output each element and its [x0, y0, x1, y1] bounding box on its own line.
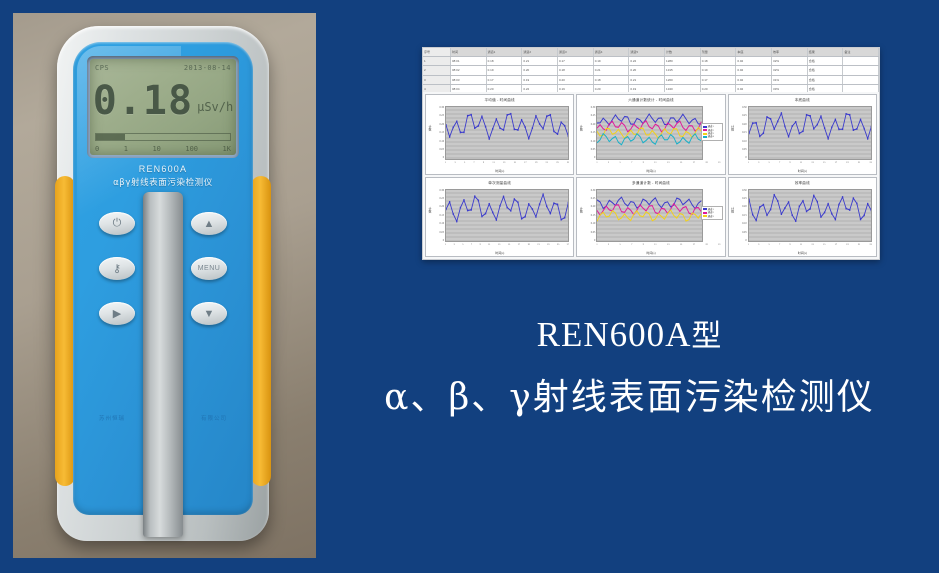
chart-data-point [524, 215, 525, 217]
x-tick: 11 [654, 243, 656, 249]
x-tick: 9 [480, 243, 481, 249]
chart-data-point [449, 201, 450, 203]
y-tick: 0.20 [433, 123, 444, 126]
x-tick: 3 [608, 243, 609, 249]
x-tick: 11 [488, 243, 490, 249]
chart-data-point [557, 133, 558, 135]
chart-data-point [557, 203, 558, 205]
chart-data-point [860, 218, 861, 220]
chart-data-point [446, 124, 447, 126]
mini-chart-yticks: 0.300.250.200.150.100.050 [433, 189, 444, 243]
lcd-scale-tick: 0 [95, 145, 99, 153]
table-header-cell: 序号 [423, 48, 451, 56]
mini-chart-title: 多通道计数 - 时间曲线 [577, 181, 724, 186]
table-cell: 0.19 [522, 76, 558, 84]
legend-swatch [703, 126, 707, 128]
x-tick: 7 [473, 161, 474, 167]
chart-data-point [824, 211, 825, 213]
table-cell: 0.17 [701, 76, 737, 84]
chart-data-point [503, 195, 504, 197]
menu-button[interactable]: MENU [191, 257, 227, 280]
table-cell: 0.18 [487, 57, 523, 65]
mini-chart-xlabel: 时间(s) [729, 251, 876, 255]
x-tick: 9 [483, 161, 484, 167]
y-tick: 0 [736, 239, 747, 242]
table-cell: 31% [772, 76, 808, 84]
x-tick: 5 [620, 243, 621, 249]
y-tick: 0.10 [584, 222, 595, 225]
chart-data-point [564, 125, 565, 127]
x-tick: 13 [498, 243, 500, 249]
chart-data-point [510, 113, 511, 115]
table-cell: 0.20 [558, 76, 594, 84]
mini-chart-ylabel: 计数 [578, 207, 583, 213]
y-tick: 0.10 [736, 222, 747, 225]
table-cell [843, 76, 879, 84]
device-label-cn: αβγ射线表面污染检测仪 [73, 176, 253, 188]
chart-data-point [849, 114, 850, 116]
x-tick: 5 [769, 161, 770, 167]
x-tick: 17 [693, 243, 695, 249]
data-table: 序号时间通道1通道2通道3通道4通道5计数剂量本底效率结果备注108:010.1… [423, 48, 879, 90]
power-button[interactable]: ⏻ [99, 212, 135, 235]
up-button[interactable]: ▲ [191, 212, 227, 235]
mini-chart-ylabel: 计数 [427, 207, 432, 213]
chart-data-point [777, 120, 778, 122]
title-model-text: REN600A [537, 315, 692, 354]
chart-data-point [560, 121, 561, 123]
x-tick: 7 [631, 243, 632, 249]
chart-data-point [784, 207, 785, 209]
chart-data-point [550, 114, 551, 116]
device-grip-left [55, 176, 75, 486]
chart-data-point [867, 202, 868, 204]
x-tick: 19 [535, 161, 537, 167]
chart-data-point [759, 206, 760, 208]
chart-series-line [597, 121, 701, 132]
y-tick: 0.15 [433, 131, 444, 134]
table-header-cell: 计数 [665, 48, 701, 56]
chart-data-point [532, 127, 533, 129]
lcd-scale-tick: 10 [152, 145, 160, 153]
product-photo: CPS 2013-08-14 0.18 μSv/h 01101001K REN6… [13, 13, 316, 558]
chart-data-point [770, 208, 771, 210]
chart-data-point [460, 131, 461, 133]
mini-chart: 六通道计数统计 - 时间曲线计数0.300.250.200.150.100.05… [576, 94, 725, 175]
chart-data-point [539, 203, 540, 205]
y-tick: 0.25 [736, 114, 747, 117]
chart-data-point [802, 199, 803, 201]
mini-chart-ylabel: 计数 [578, 125, 583, 131]
y-tick: 0.05 [433, 148, 444, 151]
chart-data-point [766, 214, 767, 216]
chart-data-point [550, 212, 551, 214]
lcd-bezel: CPS 2013-08-14 0.18 μSv/h 01101001K [87, 56, 239, 158]
chart-data-point [845, 207, 846, 209]
chart-series-line [597, 209, 701, 220]
mini-chart-title: 本底曲线 [729, 98, 876, 103]
table-header-cell: 本底 [736, 48, 772, 56]
chevron-down-icon: ▼ [204, 308, 215, 320]
chart-data-point [568, 135, 569, 137]
chart-data-point [568, 201, 569, 203]
chart-data-point [788, 136, 789, 138]
x-tick: 9 [789, 161, 790, 167]
chart-data-point [474, 127, 475, 129]
chart-data-point [791, 214, 792, 216]
x-tick: 1 [596, 161, 597, 167]
mini-chart-title: 效率曲线 [729, 181, 876, 186]
table-cell: 0.02 [736, 76, 772, 84]
chart-data-point [852, 129, 853, 131]
x-tick: 3 [758, 161, 759, 167]
x-tick: 7 [471, 243, 472, 249]
mini-chart-plot [596, 189, 702, 243]
table-cell: 合格 [808, 57, 844, 65]
x-tick: 21 [718, 161, 720, 167]
chart-data-point [863, 214, 864, 216]
legend-swatch [703, 212, 707, 214]
mini-chart-ylabel: 计数 [730, 125, 735, 131]
y-tick: 0.05 [433, 231, 444, 234]
key-button[interactable]: ⚷ [99, 257, 135, 280]
x-tick: 21 [546, 161, 548, 167]
table-cell: 0.20 [522, 66, 558, 74]
legend-label: 通道3 [708, 215, 714, 218]
chart-data-point [755, 122, 756, 124]
chart-data-point [496, 118, 497, 120]
chart-data-point [870, 209, 871, 211]
mini-chart-xlabel: 时间(s) [577, 251, 724, 255]
x-tick: 25 [557, 243, 559, 249]
chart-data-point [553, 130, 554, 132]
x-tick: 17 [835, 161, 837, 167]
chart-data-point [798, 132, 799, 134]
mini-chart-xticks: 1357911131517192123 [748, 243, 872, 249]
chart-data-point [795, 220, 796, 222]
lcd-value: 0.18 [93, 82, 193, 120]
table-header-cell: 结果 [808, 48, 844, 56]
chart-data-point [798, 205, 799, 207]
down-button[interactable]: ▼ [191, 302, 227, 325]
chart-data-point [452, 212, 453, 214]
mini-chart-xlabel: 时间(s) [426, 251, 573, 255]
chart-data-point [517, 201, 518, 203]
table-cell: 0.17 [558, 57, 594, 65]
mini-chart-xlabel: 时间(s) [426, 169, 573, 173]
chart-data-point [503, 129, 504, 131]
chart-data-point [510, 209, 511, 211]
lcd-screen: CPS 2013-08-14 0.18 μSv/h 01101001K [90, 59, 236, 155]
x-tick: 15 [680, 243, 682, 249]
table-cell: 0.18 [558, 66, 594, 74]
chart-data-point [499, 204, 500, 206]
lcd-scale-tick: 100 [185, 145, 198, 153]
chart-data-point [816, 124, 817, 126]
table-cell: 0.18 [594, 76, 630, 84]
chart-data-point [845, 113, 846, 115]
chart-data-point [492, 211, 493, 213]
mini-chart-xlabel: 时间(s) [577, 169, 724, 173]
device-faceplate: CPS 2013-08-14 0.18 μSv/h 01101001K REN6… [73, 42, 253, 515]
table-cell: 08:03 [451, 76, 487, 84]
chart-data-point [824, 127, 825, 129]
mini-chart: 平均值 - 时间曲线计数0.300.250.200.150.100.050135… [425, 94, 574, 175]
table-cell: 0.21 [594, 66, 630, 74]
chart-data-point [524, 126, 525, 128]
x-tick: 1 [748, 161, 749, 167]
mini-chart-yticks: 0.300.250.200.150.100.050 [736, 106, 747, 160]
legend-item: 通道4 [703, 135, 721, 138]
page-title: REN600A型 [322, 316, 937, 355]
software-screenshot: 序号时间通道1通道2通道3通道4通道5计数剂量本底效率结果备注108:010.1… [422, 47, 880, 260]
x-tick: 11 [800, 161, 802, 167]
key-icon: ⚷ [113, 262, 121, 275]
device-label-model: REN600A [73, 164, 253, 174]
x-tick: 5 [620, 161, 621, 167]
chart-data-point [532, 208, 533, 210]
table-header-cell: 通道1 [487, 48, 523, 56]
chart-data-point [463, 199, 464, 201]
mini-chart-xticks: 13579111315171921 [596, 243, 720, 249]
mini-chart-plot [445, 106, 569, 160]
lcd-status-left: CPS [95, 64, 109, 72]
y-tick: 0.10 [736, 140, 747, 143]
chart-data-point [784, 126, 785, 128]
chart-data-point [449, 136, 450, 138]
chart-data-point [838, 128, 839, 130]
y-tick: 0 [584, 239, 595, 242]
x-tick: 11 [800, 243, 802, 249]
chart-data-point [456, 121, 457, 123]
table-header-cell: 通道5 [629, 48, 665, 56]
x-tick: 15 [508, 243, 510, 249]
chart-data-point [499, 127, 500, 129]
chart-data-point [542, 193, 543, 195]
x-tick: 23 [870, 161, 872, 167]
chart-data-point [838, 203, 839, 205]
chart-data-point [528, 138, 529, 140]
y-tick: 0.15 [736, 131, 747, 134]
chart-data-point [467, 115, 468, 117]
chart-data-point [759, 135, 760, 137]
y-tick: 0.30 [433, 189, 444, 192]
mini-chart: 多通道计数 - 时间曲线计数0.300.250.200.150.100.050通… [576, 177, 725, 258]
x-tick: 21 [858, 161, 860, 167]
table-header-cell: 时间 [451, 48, 487, 56]
x-tick: 13 [811, 243, 813, 249]
chart-data-point [506, 206, 507, 208]
legend-swatch [703, 133, 707, 135]
page-subtitle: α、β、γ射线表面污染检测仪 [322, 377, 937, 418]
device-footer-left: 苏州恒瑞 [99, 414, 125, 422]
title-block: REN600A型 α、β、γ射线表面污染检测仪 [322, 316, 937, 418]
table-cell: 0.02 [736, 66, 772, 74]
device-grip-right [251, 176, 271, 486]
title-model-suffix: 型 [691, 319, 722, 354]
chart-data-point [535, 215, 536, 217]
table-cell: 1315 [665, 66, 701, 74]
y-tick: 0.20 [433, 205, 444, 208]
table-cell: 0.22 [629, 57, 665, 65]
x-tick: 13 [667, 243, 669, 249]
chart-data-point [492, 128, 493, 130]
mini-chart-xticks: 1357911131517192123 [748, 161, 872, 167]
x-tick: 21 [718, 243, 720, 249]
chart-data-point [813, 194, 814, 196]
menu-label: MENU [198, 265, 221, 272]
chart-data-point [834, 119, 835, 121]
chart-data-point [827, 138, 828, 140]
chart-data-point [777, 200, 778, 202]
x-tick: 23 [870, 243, 872, 249]
x-tick: 23 [556, 161, 558, 167]
x-tick: 13 [503, 161, 505, 167]
chart-data-point [816, 200, 817, 202]
y-tick: 0.30 [433, 106, 444, 109]
chart-series-line [446, 114, 568, 139]
device-footer-text: 苏州恒瑞 有限公司 [73, 414, 253, 422]
chart-data-point [856, 128, 857, 130]
chart-data-point [752, 122, 753, 124]
chart-grid: 平均值 - 时间曲线计数0.300.250.200.150.100.050135… [423, 92, 879, 259]
power-icon: ⏻ [113, 217, 122, 230]
y-tick: 0 [584, 156, 595, 159]
y-tick: 0.25 [584, 197, 595, 200]
chart-data-point [560, 218, 561, 220]
x-tick: 17 [524, 161, 526, 167]
chart-data-point [762, 203, 763, 205]
y-tick: 0.25 [736, 197, 747, 200]
chart-data-point [820, 216, 821, 218]
table-cell: 0.19 [487, 66, 523, 74]
table-header-cell: 剂量 [701, 48, 737, 56]
lcd-bargraph [95, 133, 231, 141]
y-tick: 0.20 [736, 205, 747, 208]
table-cell: 合格 [808, 76, 844, 84]
lcd-scale-tick: 1 [124, 145, 128, 153]
table-header-cell: 通道2 [522, 48, 558, 56]
table-header-cell: 效率 [772, 48, 808, 56]
x-tick: 5 [462, 243, 463, 249]
legend-swatch [703, 208, 707, 210]
chart-data-point [467, 209, 468, 211]
play-button[interactable]: ▶ [99, 302, 135, 325]
mini-chart-xticks: 13579111315171921 [596, 161, 720, 167]
table-cell: 2 [423, 66, 451, 74]
chart-data-point [780, 112, 781, 114]
mini-chart: 效率曲线计数0.300.250.200.150.100.050135791113… [728, 177, 877, 258]
chart-data-point [514, 128, 515, 130]
x-tick: 15 [823, 161, 825, 167]
y-tick: 0.30 [584, 189, 595, 192]
table-cell: 3 [423, 76, 451, 84]
chart-data-point [446, 208, 447, 210]
x-tick: 1 [748, 243, 749, 249]
chart-data-point [749, 132, 750, 134]
chart-data-point [856, 202, 857, 204]
chart-data-point [463, 131, 464, 133]
x-tick: 15 [823, 243, 825, 249]
play-icon: ▶ [113, 307, 121, 320]
y-tick: 0.05 [584, 231, 595, 234]
x-tick: 17 [835, 243, 837, 249]
y-tick: 0.20 [584, 205, 595, 208]
chart-data-point [831, 212, 832, 214]
chevron-up-icon: ▲ [204, 218, 215, 230]
table-header-cell: 通道3 [558, 48, 594, 56]
mini-chart-ylabel: 计数 [427, 125, 432, 131]
chart-data-point [489, 203, 490, 205]
y-tick: 0.10 [584, 140, 595, 143]
y-tick: 0.25 [433, 114, 444, 117]
radiation-detector-device: CPS 2013-08-14 0.18 μSv/h 01101001K REN6… [57, 26, 269, 541]
x-tick: 3 [454, 243, 455, 249]
chart-data-point [827, 202, 828, 204]
table-row: 108:010.180.210.170.190.2212800.180.0232… [423, 57, 879, 66]
table-cell: 1 [423, 57, 451, 65]
mini-chart-title: 六通道计数统计 - 时间曲线 [577, 98, 724, 103]
chart-data-point [820, 115, 821, 117]
table-cell: 0.19 [594, 57, 630, 65]
x-tick: 7 [631, 161, 632, 167]
table-cell: 0.02 [736, 57, 772, 65]
x-tick: 1 [445, 161, 446, 167]
mini-chart-xticks: 13579111315171921232527 [445, 243, 569, 249]
chart-data-point [809, 207, 810, 209]
chart-series-line [597, 114, 701, 125]
x-tick: 13 [667, 161, 669, 167]
x-tick: 27 [567, 243, 569, 249]
y-tick: 0.30 [736, 106, 747, 109]
chart-data-point [553, 202, 554, 204]
chart-data-point [863, 128, 864, 130]
chart-data-point [773, 128, 774, 130]
table-header-row: 序号时间通道1通道2通道3通道4通道5计数剂量本底效率结果备注 [423, 48, 879, 57]
legend-swatch [703, 136, 707, 138]
x-tick: 25 [567, 161, 569, 167]
chart-data-point [521, 119, 522, 121]
chart-data-point [766, 116, 767, 118]
x-tick: 11 [492, 161, 494, 167]
chart-data-point [834, 218, 835, 220]
chart-data-point [485, 212, 486, 214]
chart-data-point [842, 196, 843, 198]
x-tick: 5 [464, 161, 465, 167]
x-tick: 17 [693, 161, 695, 167]
table-cell: 合格 [808, 66, 844, 74]
chart-data-point [546, 115, 547, 117]
mini-chart-ylabel: 计数 [730, 207, 735, 213]
table-cell: 1260 [665, 76, 701, 84]
y-tick: 0.20 [584, 123, 595, 126]
chart-data-point [806, 114, 807, 116]
x-tick: 9 [789, 243, 790, 249]
chart-data-point [542, 128, 543, 130]
x-tick: 3 [608, 161, 609, 167]
table-cell: 0.21 [629, 76, 665, 84]
mini-chart-plot [445, 189, 569, 243]
slide-canvas: CPS 2013-08-14 0.18 μSv/h 01101001K REN6… [0, 0, 939, 573]
chart-data-point [452, 127, 453, 129]
y-tick: 0 [433, 239, 444, 242]
y-tick: 0.25 [433, 197, 444, 200]
chart-data-point [770, 118, 771, 120]
table-cell: 0.17 [487, 76, 523, 84]
device-center-strip [143, 192, 183, 537]
chart-data-point [788, 201, 789, 203]
x-tick: 13 [811, 161, 813, 167]
